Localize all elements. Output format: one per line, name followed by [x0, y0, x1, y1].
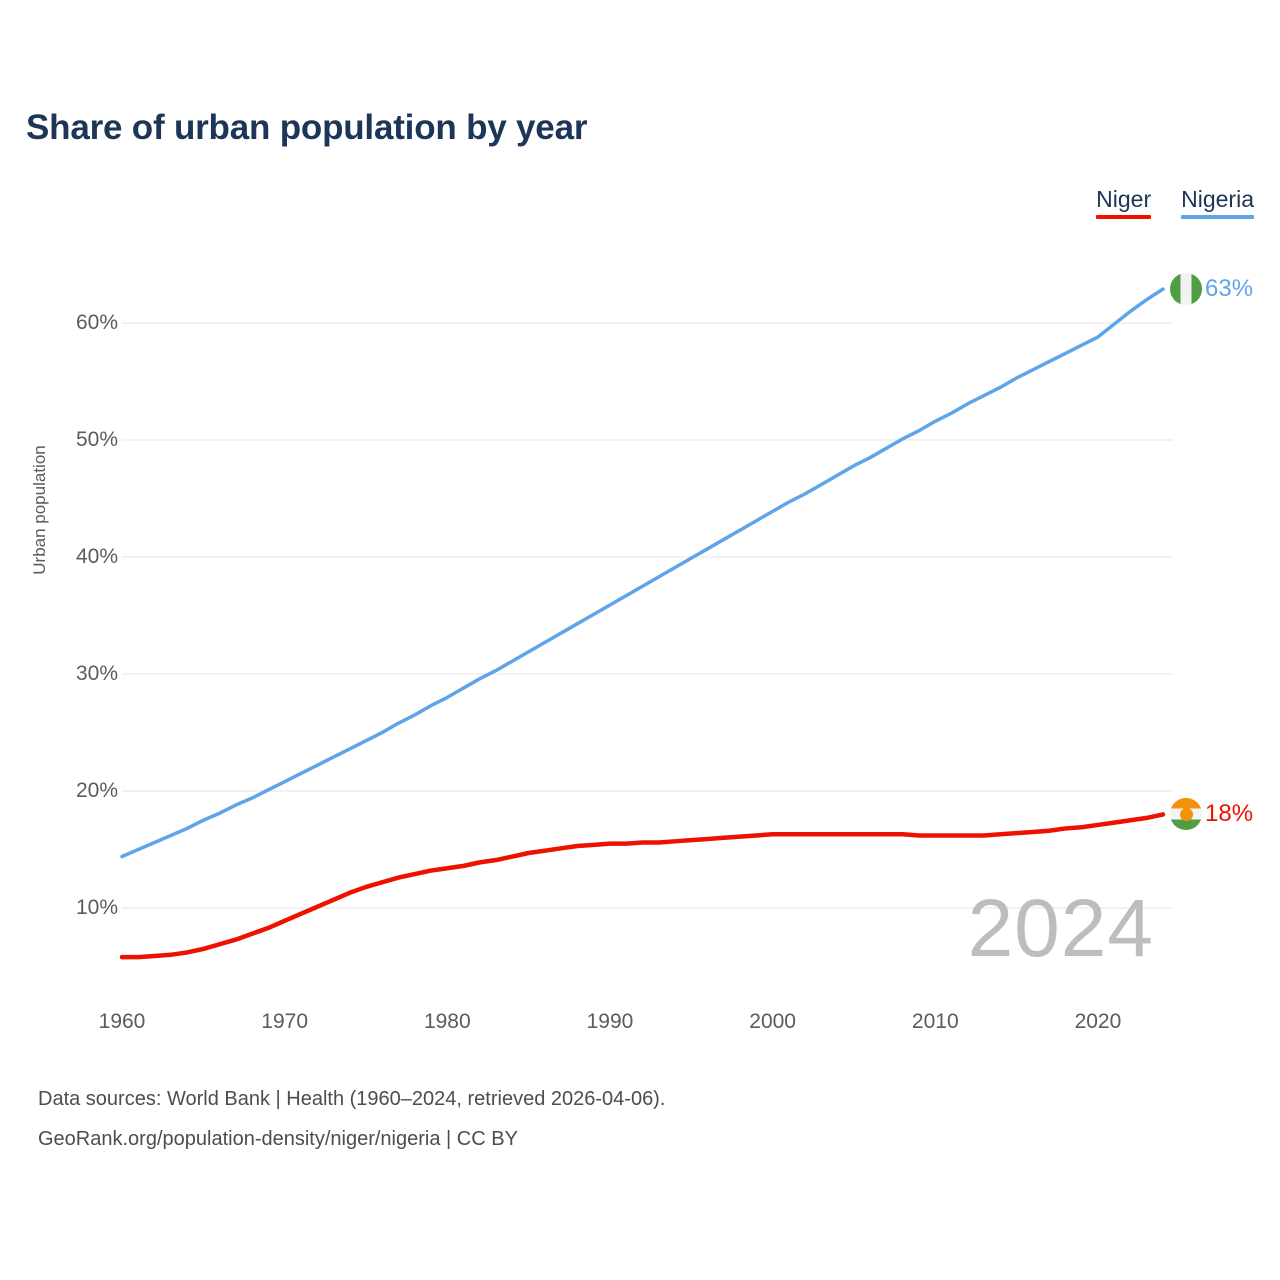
niger-flag-sun [1180, 808, 1193, 821]
y-tick-label: 40% [18, 545, 118, 569]
end-label-niger: 18% [1205, 800, 1253, 828]
legend-item-niger[interactable]: Niger [1096, 186, 1151, 219]
y-tick-label: 60% [18, 311, 118, 335]
x-tick-label: 1970 [261, 1010, 308, 1034]
x-tick-label: 2020 [1075, 1010, 1122, 1034]
legend-label-niger: Niger [1096, 186, 1151, 212]
legend-label-nigeria: Nigeria [1181, 186, 1254, 212]
y-tick-label: 20% [18, 779, 118, 803]
series-lines [122, 289, 1163, 957]
niger-flag-icon [1170, 798, 1202, 830]
nigeria-flag-icon [1170, 273, 1202, 305]
x-tick-label: 2000 [749, 1010, 796, 1034]
x-tick-label: 1990 [587, 1010, 634, 1034]
chart-root: Share of urban population by year Niger … [0, 0, 1280, 1280]
end-label-nigeria: 63% [1205, 275, 1253, 303]
y-tick-label: 50% [18, 428, 118, 452]
legend-item-nigeria[interactable]: Nigeria [1181, 186, 1254, 219]
y-tick-label: 10% [18, 896, 118, 920]
series-line-nigeria [122, 289, 1163, 856]
legend-rule-nigeria [1181, 215, 1254, 219]
chart-legend: Niger Nigeria [1096, 186, 1254, 219]
gridlines [122, 323, 1173, 908]
footer-line-1: Data sources: World Bank | Health (1960–… [38, 1088, 665, 1111]
footer-line-2: GeoRank.org/population-density/niger/nig… [38, 1128, 518, 1151]
year-watermark: 2024 [968, 888, 1154, 970]
legend-rule-niger [1096, 215, 1151, 219]
y-tick-label: 30% [18, 662, 118, 686]
x-tick-label: 2010 [912, 1010, 959, 1034]
x-tick-label: 1980 [424, 1010, 471, 1034]
x-tick-label: 1960 [99, 1010, 146, 1034]
